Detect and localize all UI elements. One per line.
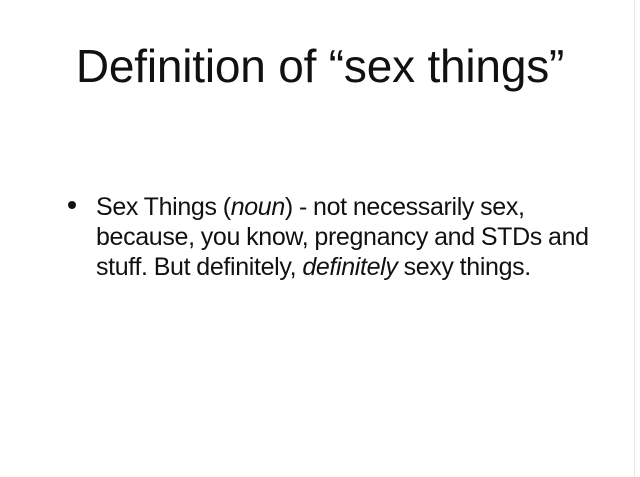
bullet-run-0: Sex Things ( [96,193,231,221]
bullet-dot-icon [68,201,76,209]
slide-title: Definition of “sex things” [0,38,640,94]
bullet-run-4: sexy things. [397,253,530,281]
bullet-item-text: Sex Things (noun) - not necessarily sex,… [96,193,589,281]
presentation-slide: Definition of “sex things” Sex Things (n… [0,0,640,477]
list-item: Sex Things (noun) - not necessarily sex,… [66,192,596,282]
slide-body: Sex Things (noun) - not necessarily sex,… [66,192,596,282]
bullet-run-3-italic: definitely [302,253,397,281]
bullet-run-1-italic: noun [231,193,285,221]
